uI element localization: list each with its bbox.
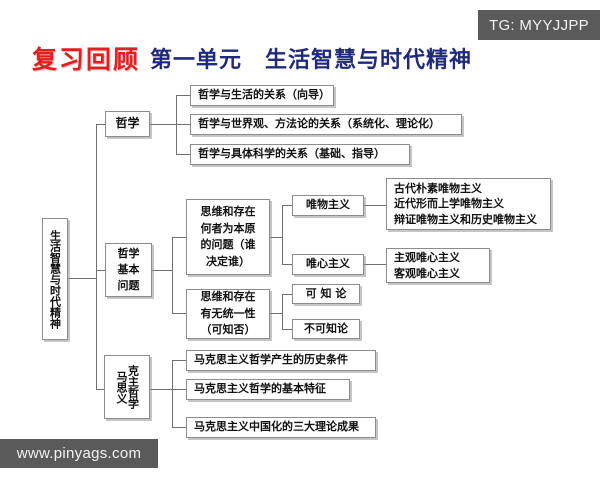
node-zhexue-child-2[interactable]: 哲学与世界观、方法论的关系（系统化、理论化） xyxy=(190,114,462,135)
connector-tongyixing-bus xyxy=(282,294,283,329)
page-title: 复习回顾 第一单元 生活智慧与时代精神 xyxy=(0,40,600,74)
node-makesi-child-3[interactable]: 马克思主义中国化的三大理论成果 xyxy=(186,417,376,438)
connector-tongyixing-child-1 xyxy=(282,294,292,295)
node-weixinzhuyi-forms[interactable]: 主观唯心主义 客观唯心主义 xyxy=(386,248,490,283)
node-zhexue-child-1[interactable]: 哲学与生活的关系（向导） xyxy=(190,85,334,106)
node-makesizhuyi-zhexue[interactable]: 马思义 克主哲学 xyxy=(104,355,150,419)
node-benyuan-label: 思维和存在 何者为本原 的问题（谁 决定谁） xyxy=(201,204,256,270)
connector-benyuan-child-weiwu xyxy=(282,205,292,206)
node-bukezhilun-label: 不可知论 xyxy=(304,322,348,336)
page-title-main: 第一单元 生活智慧与时代精神 xyxy=(150,42,472,74)
node-makesi-child-2-label: 马克思主义哲学的基本特征 xyxy=(194,382,326,396)
node-zhexue-child-3[interactable]: 哲学与具体科学的关系（基础、指导） xyxy=(190,144,410,165)
connector-main-spine xyxy=(96,124,97,389)
connector-weixin-to-leaf xyxy=(364,264,386,265)
node-jibenwenti-label: 哲学 基本 问题 xyxy=(118,246,140,294)
node-kezhilun[interactable]: 可 知 论 xyxy=(292,284,360,304)
node-tongyixing[interactable]: 思维和存在 有无统一性 （可知否） xyxy=(186,289,270,339)
node-weixinzhuyi[interactable]: 唯心主义 xyxy=(292,254,364,275)
connector-zhexue-child-1 xyxy=(176,95,190,96)
node-zhexue[interactable]: 哲学 xyxy=(105,111,150,137)
connector-tongyixing-out xyxy=(270,313,282,314)
connector-weiwu-to-leaf xyxy=(364,205,386,206)
node-makesi-child-1-label: 马克思主义哲学产生的历史条件 xyxy=(194,353,348,367)
connector-root-stub xyxy=(68,278,96,279)
node-root-label: 生活智慧与时代精神 xyxy=(50,230,61,329)
node-zhexue-child-1-label: 哲学与生活的关系（向导） xyxy=(198,88,329,102)
connector-zhexue-out xyxy=(150,124,176,125)
connector-spine-to-jibenwenti xyxy=(96,270,105,271)
node-zhexue-label: 哲学 xyxy=(115,116,139,131)
connector-spine-to-zhexue xyxy=(96,124,105,125)
connector-makesi-child-3 xyxy=(172,427,186,428)
connector-makesi-child-1 xyxy=(172,360,186,361)
connector-zhexue-child-2 xyxy=(176,124,190,125)
node-zhexue-child-3-label: 哲学与具体科学的关系（基础、指导） xyxy=(198,147,385,161)
connector-jibenwenti-out xyxy=(152,270,172,271)
connector-benyuan-child-weixin xyxy=(282,264,292,265)
node-weixinzhuyi-label: 唯心主义 xyxy=(306,257,350,271)
node-weiwuzhuyi-forms[interactable]: 古代朴素唯物主义 近代形而上学唯物主义 辩证唯物主义和历史唯物主义 xyxy=(386,178,551,230)
page-title-highlight: 复习回顾 xyxy=(32,40,140,76)
connector-makesi-out xyxy=(150,389,172,390)
node-kezhilun-label: 可 知 论 xyxy=(306,287,347,301)
node-benyuan[interactable]: 思维和存在 何者为本原 的问题（谁 决定谁） xyxy=(186,199,270,275)
watermark-bottom-left: www.pinyags.com xyxy=(0,439,158,468)
node-makesi-child-3-label: 马克思主义中国化的三大理论成果 xyxy=(194,420,359,434)
node-jibenwenti[interactable]: 哲学 基本 问题 xyxy=(105,243,152,297)
connector-jibenwenti-child-1 xyxy=(172,237,186,238)
node-bukezhilun[interactable]: 不可知论 xyxy=(292,319,360,339)
node-weiwuzhuyi-label: 唯物主义 xyxy=(306,198,350,212)
connector-zhexue-child-3 xyxy=(176,154,190,155)
connector-makesi-child-2 xyxy=(172,389,186,390)
node-makesizhuyi-zhexue-label-col-left: 克主哲学 xyxy=(127,365,139,409)
node-zhexue-child-2-label: 哲学与世界观、方法论的关系（系统化、理论化） xyxy=(198,117,440,131)
node-makesizhuyi-zhexue-label-col-right: 马思义 xyxy=(115,371,127,404)
node-makesi-child-1[interactable]: 马克思主义哲学产生的历史条件 xyxy=(186,350,376,371)
watermark-top-right: TG: MYYJJPP xyxy=(478,10,600,40)
slide-canvas: 复习回顾 第一单元 生活智慧与时代精神 生活智慧与时代精神 哲学 xyxy=(0,0,600,480)
node-root[interactable]: 生活智慧与时代精神 xyxy=(42,218,68,340)
connector-tongyixing-child-2 xyxy=(282,329,292,330)
connector-jibenwenti-child-2 xyxy=(172,313,186,314)
node-weixinzhuyi-forms-label: 主观唯心主义 客观唯心主义 xyxy=(394,250,460,281)
connector-benyuan-bus xyxy=(282,205,283,264)
node-weiwuzhuyi-forms-label: 古代朴素唯物主义 近代形而上学唯物主义 辩证唯物主义和历史唯物主义 xyxy=(394,181,537,228)
node-weiwuzhuyi[interactable]: 唯物主义 xyxy=(292,195,364,216)
connector-makesi-bus xyxy=(172,360,173,427)
connector-jibenwenti-bus xyxy=(172,237,173,313)
connector-benyuan-out xyxy=(270,237,282,238)
node-tongyixing-label: 思维和存在 有无统一性 （可知否） xyxy=(201,289,256,339)
node-makesi-child-2[interactable]: 马克思主义哲学的基本特征 xyxy=(186,379,350,400)
